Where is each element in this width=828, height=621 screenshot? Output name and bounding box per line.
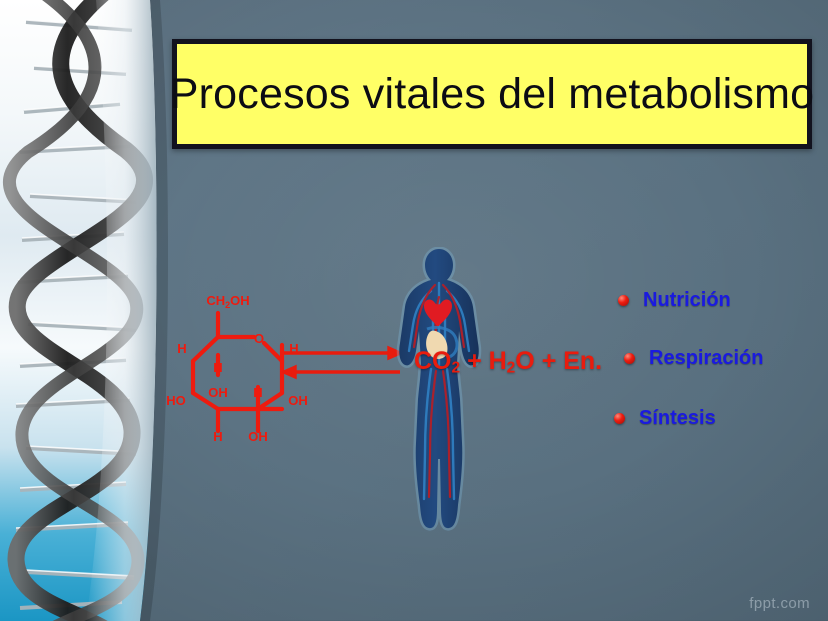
watermark: fppt.com (749, 595, 810, 612)
dna-double-helix-illustration (0, 0, 168, 621)
glucose-label-bottom-oh: OH (248, 429, 268, 444)
list-item-label: Nutrición (643, 289, 731, 312)
process-list: Nutrición Respiración Síntesis (614, 283, 828, 435)
list-item-label: Síntesis (639, 407, 716, 430)
list-item-label: Respiración (649, 347, 763, 370)
formula-h2o-sub: 2 (507, 359, 516, 376)
glucose-label-inner-left-oh: OH (208, 385, 228, 400)
formula-co2-text: CO (414, 347, 452, 375)
glucose-label-right-oh: OH (288, 393, 308, 408)
list-item-respiracion[interactable]: Respiración (624, 341, 828, 375)
title-box: Procesos vitales del metabolismo (172, 39, 812, 149)
dna-decoration-panel (0, 0, 168, 621)
glucose-label-left-ho: HO (166, 393, 186, 408)
red-sphere-bullet-icon (614, 413, 625, 424)
glucose-label-ring-oxygen: O (254, 331, 264, 346)
arrow-reverse-head (284, 367, 295, 377)
formula-plus-h: + H (460, 347, 507, 375)
glucose-label-ch2oh: CH2OH (206, 293, 249, 310)
glucose-label-upper-left-h: H (177, 341, 186, 356)
respiration-products-formula: CO2 + H2O + En. (414, 347, 602, 377)
red-sphere-bullet-icon (618, 295, 629, 306)
formula-o-energy: O + En. (515, 347, 602, 375)
list-item-sintesis[interactable]: Síntesis (614, 401, 828, 435)
presentation-slide: Procesos vitales del metabolismo (0, 0, 828, 621)
formula-co2-sub: 2 (452, 359, 461, 376)
glucose-label-inner-right-h: H (253, 385, 262, 400)
page-title: Procesos vitales del metabolismo (170, 73, 815, 116)
glucose-label-inner-left-h: H (213, 360, 222, 375)
human-circulatory-figure (383, 247, 495, 532)
red-sphere-bullet-icon (624, 353, 635, 364)
glucose-label-bottom-h: H (213, 429, 222, 444)
list-item-nutricion[interactable]: Nutrición (618, 283, 828, 317)
human-body-svg (383, 247, 495, 532)
